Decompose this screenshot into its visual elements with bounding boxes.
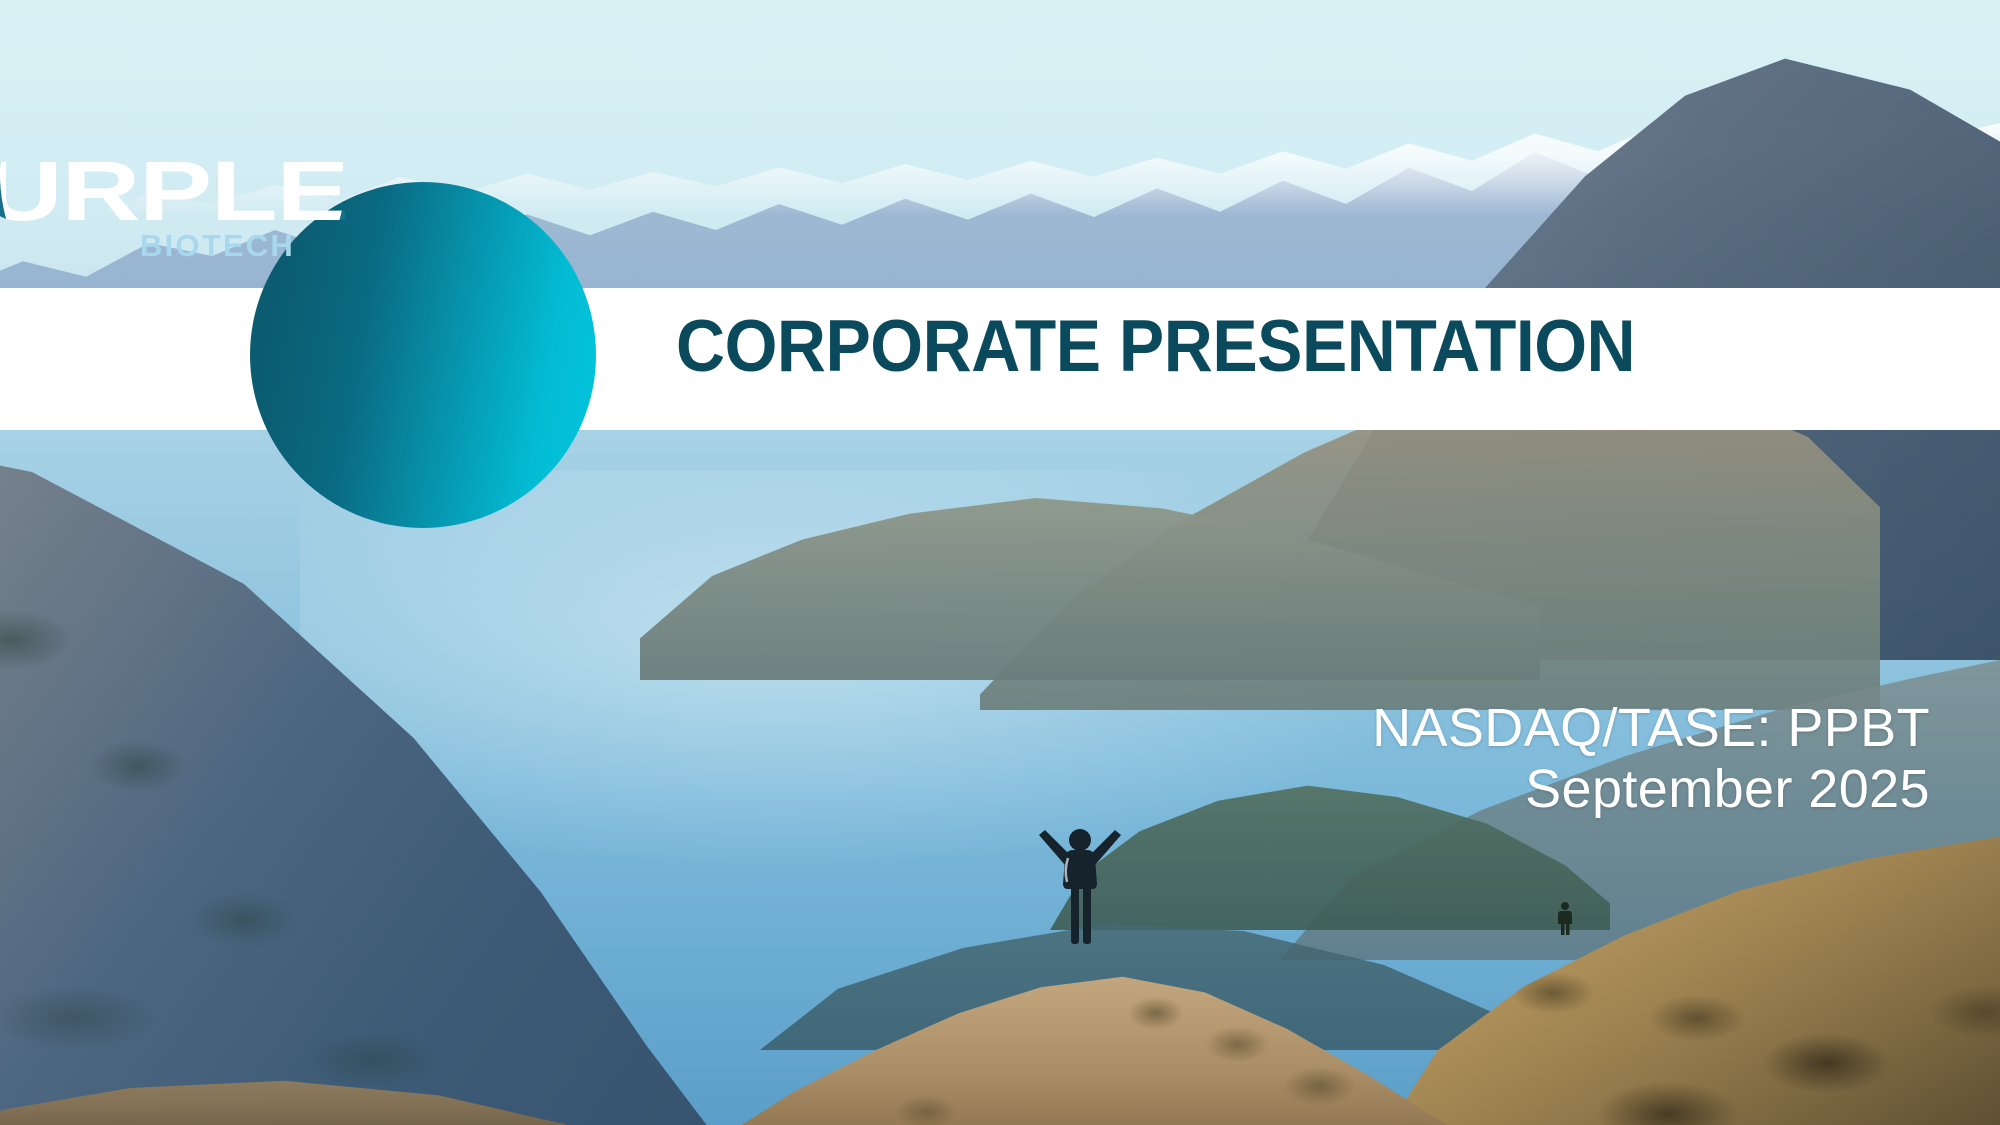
presentation-date: September 2025 <box>1372 761 1930 818</box>
page-title: CORPORATE PRESENTATION <box>676 310 1635 383</box>
stock-ticker: NASDAQ/TASE: PPBT <box>1372 700 1930 757</box>
logo-subtitle: BIOTECH <box>140 228 295 264</box>
logo-wordmark: PURPLE PURPLE <box>0 158 352 236</box>
svg-text:PURPLE: PURPLE <box>0 158 348 236</box>
presentation-slide: PURPLE PURPLE BIOTECH CORPORATE PRESENTA… <box>0 0 2000 1125</box>
distant-figure-icon <box>1552 900 1578 936</box>
hiker-silhouette-icon <box>1035 812 1125 952</box>
ticker-date-block: NASDAQ/TASE: PPBT September 2025 <box>1372 700 1930 818</box>
